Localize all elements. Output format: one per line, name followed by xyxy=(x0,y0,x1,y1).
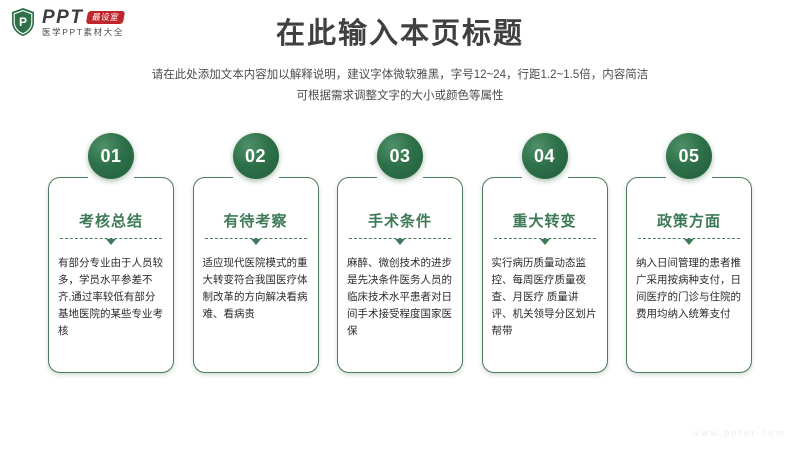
number-badge: 04 xyxy=(522,133,568,179)
number-badge: 02 xyxy=(233,133,279,179)
card-item[interactable]: 05 政策方面 纳入日间管理的患者推广采用按病种支付，日间医疗的门诊与住院的费用… xyxy=(626,155,752,373)
card-row: 01 考核总结 有部分专业由于人员较多，学员水平参差不齐,通过率较低有部分基地医… xyxy=(48,155,752,373)
card-title: 重大转变 xyxy=(492,214,598,229)
card-item[interactable]: 02 有待考察 适应现代医院模式的重大转变符合我国医疗体制改革的方向解决看病难、… xyxy=(193,155,319,373)
card-panel: 重大转变 实行病历质量动态监控、每周医疗质量夜查、月医疗 质量讲评、机关领导分区… xyxy=(482,177,608,373)
triangle-down-icon xyxy=(251,239,261,245)
page-title: 在此输入本页标题 xyxy=(0,18,800,51)
card-divider xyxy=(494,238,596,247)
card-body-text: 有部分专业由于人员较多，学员水平参差不齐,通过率较低有部分基地医院的某些专业考核 xyxy=(58,255,164,340)
badge-number: 03 xyxy=(389,147,410,165)
card-panel: 政策方面 纳入日间管理的患者推广采用按病种支付，日间医疗的门诊与住院的费用均纳入… xyxy=(626,177,752,373)
card-panel: 考核总结 有部分专业由于人员较多，学员水平参差不齐,通过率较低有部分基地医院的某… xyxy=(48,177,174,373)
number-badge: 01 xyxy=(88,133,134,179)
card-divider xyxy=(638,238,740,247)
badge-number: 02 xyxy=(245,147,266,165)
card-divider xyxy=(349,238,451,247)
triangle-down-icon xyxy=(395,239,405,245)
card-body-text: 麻醉、微创技术的进步是先决条件医务人员的临床技术水平患者对日间手术接受程度国家医… xyxy=(347,255,453,340)
card-title: 手术条件 xyxy=(347,214,453,229)
badge-number: 01 xyxy=(100,147,121,165)
card-divider xyxy=(60,238,162,247)
page-subtitle-line-2: 可根据需求调整文字的大小或颜色等属性 xyxy=(0,86,800,107)
card-body-text: 适应现代医院模式的重大转变符合我国医疗体制改革的方向解决看病难、看病贵 xyxy=(203,255,309,323)
number-badge: 03 xyxy=(377,133,423,179)
triangle-down-icon xyxy=(540,239,550,245)
badge-number: 04 xyxy=(534,147,555,165)
card-title: 政策方面 xyxy=(636,214,742,229)
triangle-down-icon xyxy=(684,239,694,245)
card-divider xyxy=(205,238,307,247)
card-panel: 手术条件 麻醉、微创技术的进步是先决条件医务人员的临床技术水平患者对日间手术接受… xyxy=(337,177,463,373)
card-title: 考核总结 xyxy=(58,214,164,229)
card-item[interactable]: 04 重大转变 实行病历质量动态监控、每周医疗质量夜查、月医疗 质量讲评、机关领… xyxy=(482,155,608,373)
number-badge: 05 xyxy=(666,133,712,179)
badge-number: 05 xyxy=(678,147,699,165)
card-panel: 有待考察 适应现代医院模式的重大转变符合我国医疗体制改革的方向解决看病难、看病贵 xyxy=(193,177,319,373)
page-subtitle-line-1: 请在此处添加文本内容加以解释说明，建议字体微软雅黑，字号12~24，行距1.2~… xyxy=(0,65,800,86)
card-item[interactable]: 03 手术条件 麻醉、微创技术的进步是先决条件医务人员的临床技术水平患者对日间手… xyxy=(337,155,463,373)
card-item[interactable]: 01 考核总结 有部分专业由于人员较多，学员水平参差不齐,通过率较低有部分基地医… xyxy=(48,155,174,373)
page-subtitle: 请在此处添加文本内容加以解释说明，建议字体微软雅黑，字号12~24，行距1.2~… xyxy=(0,65,800,108)
card-body-text: 纳入日间管理的患者推广采用按病种支付，日间医疗的门诊与住院的费用均纳入统筹支付 xyxy=(636,255,742,323)
triangle-down-icon xyxy=(106,239,116,245)
site-watermark: www.ppter.com xyxy=(692,428,786,438)
card-title: 有待考察 xyxy=(203,214,309,229)
card-body-text: 实行病历质量动态监控、每周医疗质量夜查、月医疗 质量讲评、机关领导分区划片帮带 xyxy=(492,255,598,340)
